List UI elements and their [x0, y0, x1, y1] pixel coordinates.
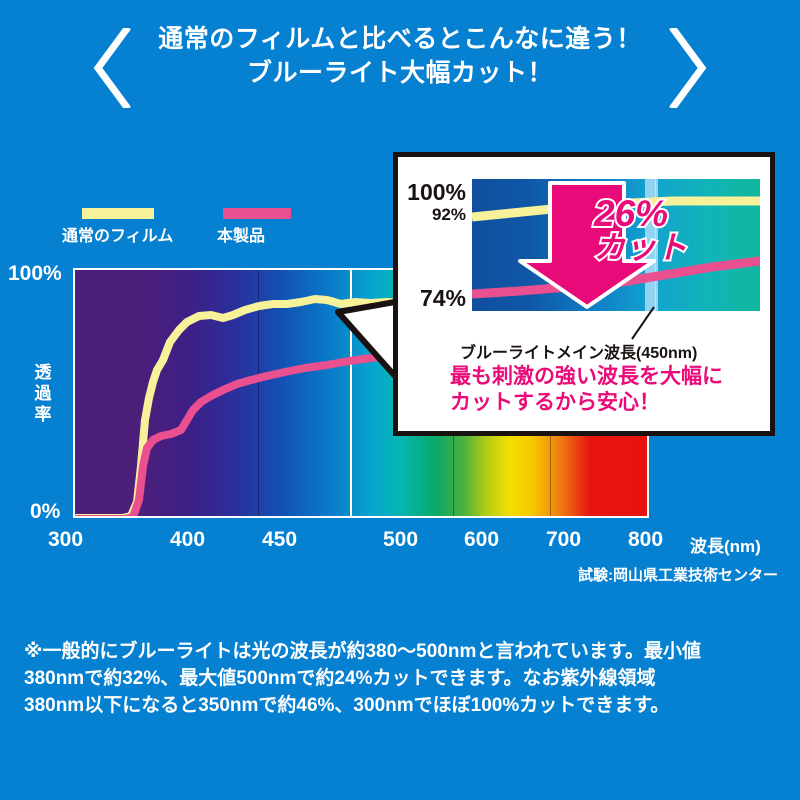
cut-percentage-value: 26%: [594, 195, 687, 232]
headline-text: 通常のフィルムと比べるとこんなに違う！ ブルーライト大幅カット！: [110, 22, 690, 90]
callout-message: 最も刺激の強い波長を大幅に カットするから安心！: [450, 364, 723, 416]
legend-label-this-product: 本製品: [217, 222, 291, 246]
x-tick-600: 600: [464, 528, 499, 552]
y-axis-min-label: 0%: [30, 500, 60, 524]
x-tick-800: 800: [628, 528, 663, 552]
legend-swatch-normal-film: [82, 208, 154, 219]
chart-legend: 通常のフィルム 本製品: [62, 208, 362, 248]
legend-item-normal-film: 通常のフィルム: [62, 208, 173, 246]
leader-line: [628, 305, 658, 341]
footnote-line-2: 380nmで約32%、最大値500nmで約24%カットできます。なお紫外線領域: [24, 665, 784, 692]
headline-line-2: ブルーライト大幅カット！: [110, 56, 690, 90]
footnote-line-1: ※一般的にブルーライトは光の波長が約380〜500nmと言われています。最小値: [24, 638, 784, 665]
headline-banner: 通常のフィルムと比べるとこんなに違う！ ブルーライト大幅カット！: [0, 22, 800, 117]
test-credit: 試験:岡山県工業技術センター: [578, 564, 778, 585]
inset-label-100: 100%: [404, 179, 466, 206]
x-tick-500: 500: [383, 528, 418, 552]
y-axis-max-label: 100%: [8, 262, 62, 286]
callout-message-line-1: 最も刺激の強い波長を大幅に: [450, 364, 723, 390]
x-tick-300: 300: [48, 528, 83, 552]
legend-item-this-product: 本製品: [217, 208, 291, 246]
poster-root: 通常のフィルムと比べるとこんなに違う！ ブルーライト大幅カット！ 通常のフィルム…: [0, 0, 800, 800]
inset-label-74: 74%: [404, 285, 466, 312]
footnote-text: ※一般的にブルーライトは光の波長が約380〜500nmと言われています。最小値 …: [24, 638, 784, 719]
x-axis-title: 波長(nm): [690, 532, 761, 557]
x-axis-ticks: 300 400 450 500 600 700 800: [0, 528, 800, 558]
legend-label-normal-film: 通常のフィルム: [62, 222, 173, 246]
legend-swatch-this-product: [223, 208, 291, 219]
callout-message-line-2: カットするから安心！: [450, 390, 723, 416]
footnote-line-3: 380nm以下になると350nmで約46%、300nmでほぼ100%カットできま…: [24, 692, 784, 719]
x-tick-450: 450: [262, 528, 297, 552]
x-tick-400: 400: [170, 528, 205, 552]
callout-box: 100% 92% 74% 26% カット ブルーライトメイン波長(450nm) …: [393, 152, 775, 436]
headline-line-1: 通常のフィルムと比べるとこんなに違う！: [110, 22, 690, 56]
bracket-right-icon: [668, 28, 708, 108]
inset-label-92: 92%: [404, 205, 466, 225]
x-tick-700: 700: [546, 528, 581, 552]
blue-light-wavelength-note: ブルーライトメイン波長(450nm): [460, 339, 697, 363]
cut-percentage-unit: カット: [594, 232, 687, 263]
cut-percentage-callout: 26% カット: [594, 195, 687, 263]
y-axis-title: 透過率: [32, 362, 54, 425]
